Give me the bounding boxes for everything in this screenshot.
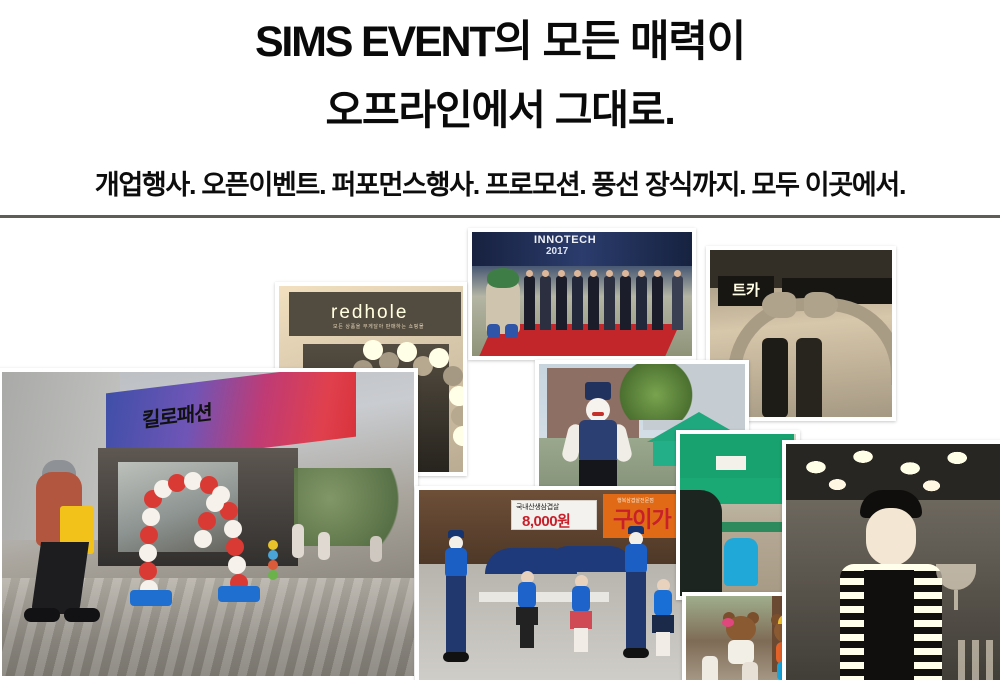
photo-street-balloon-arch: 킬로패션 [0, 368, 418, 680]
sub-headline: 개업행사. 오픈이벤트. 퍼포먼스행사. 프로모션. 풍선 장식까지. 모두 이… [0, 168, 1000, 202]
photo-collage: INNOTECH 2017 [0, 218, 1000, 680]
headline-line-1: SIMS EVENT의 모든 매력이 [0, 16, 1000, 68]
photo-innotech-ribbon-cutting: INNOTECH 2017 [468, 228, 696, 360]
innotech-banner-year: 2017 [546, 246, 568, 257]
poster-header: SIMS EVENT의 모든 매력이 오프라인에서 그대로. 개업행사. 오픈이… [0, 0, 1000, 216]
photo-magician-performer [782, 440, 1000, 680]
redhole-logo-subtext: 모든 상품을 무게달아 판매하는 쇼핑몰 [333, 323, 424, 330]
redhole-logo-text: redhole [331, 302, 408, 324]
p6-price-sign-value: 8,000원 [522, 510, 570, 531]
innotech-banner-text: INNOTECH [534, 234, 596, 246]
photo-stilt-walkers: 국내산생삼겹살 8,000원 행복삼겹살전문점 구이가 [415, 486, 693, 680]
brand-name: SIMS EVENT [255, 18, 493, 66]
headline-line-2: 오프라인에서 그대로. [0, 84, 1000, 136]
headline-line-1-suffix: 의 모든 매력이 [493, 18, 745, 66]
poster-page: SIMS EVENT의 모든 매력이 오프라인에서 그대로. 개업행사. 오픈이… [0, 0, 1000, 680]
